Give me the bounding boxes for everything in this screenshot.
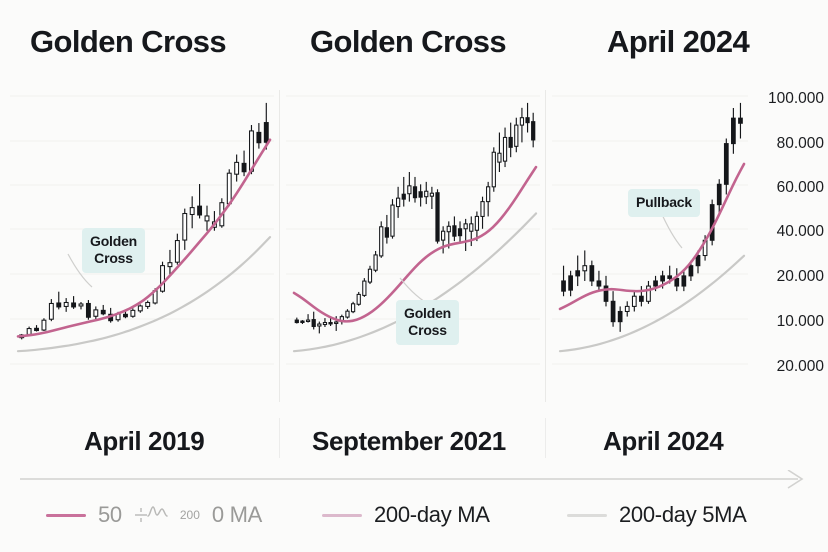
y-axis-tick: 20.000 xyxy=(777,358,824,376)
date-label-3: April 2024 xyxy=(603,426,723,457)
date-labels-row: April 2019 September 2021 April 2024 xyxy=(0,418,828,466)
legend-swatch-200day-ma xyxy=(322,514,362,517)
date-label-2: September 2021 xyxy=(312,426,506,457)
squiggle-icon xyxy=(134,503,168,528)
date-label-1: April 2019 xyxy=(84,426,204,457)
legend-item-50ma[interactable]: 50 200 0 MA xyxy=(46,502,262,528)
legend-label-200-small: 200 xyxy=(180,508,200,522)
legend-label-200day-ma: 200-day MA xyxy=(374,502,490,528)
panel-title-3: April 2024 xyxy=(607,24,749,60)
chart-panel-3: Pullback xyxy=(550,82,750,412)
panel-title-1: Golden Cross xyxy=(30,24,226,60)
panel-divider-2 xyxy=(545,90,546,402)
y-axis-tick: 40.000 xyxy=(777,223,824,241)
date-divider-2 xyxy=(545,418,546,458)
y-axis-labels: 100.00080.00060.00040.00020.00010.00020.… xyxy=(752,82,828,412)
chart-panel-1: Golden Cross xyxy=(8,82,276,412)
panel-title-2: Golden Cross xyxy=(310,24,506,60)
legend-item-200day-5ma[interactable]: 200-day 5MA xyxy=(567,502,747,528)
date-divider-1 xyxy=(279,418,280,458)
panel-titles-row: Golden Cross Golden Cross April 2024 xyxy=(0,0,828,78)
charts-row: Golden Cross Golden Cross Pullback xyxy=(0,82,828,412)
chart-panel-2: Golden Cross xyxy=(284,82,542,412)
legend-label-0ma: 0 MA xyxy=(212,502,262,528)
y-axis-tick: 100.000 xyxy=(768,90,824,108)
candlestick-chart-2 xyxy=(284,82,542,412)
candlestick-chart-3 xyxy=(550,82,750,412)
y-axis-tick: 20.000 xyxy=(777,268,824,286)
annotation-golden-cross-1: Golden Cross xyxy=(82,228,145,273)
panel-divider-1 xyxy=(279,90,280,402)
legend-swatch-200day-5ma xyxy=(567,514,607,517)
legend-swatch-50ma xyxy=(46,514,86,517)
legend: 50 200 0 MA 200-day MA 200-day 5MA xyxy=(0,498,828,544)
legend-item-200day-ma[interactable]: 200-day MA xyxy=(322,502,490,528)
golden-cross-infographic: Golden Cross Golden Cross April 2024 Gol… xyxy=(0,0,828,552)
y-axis-tick: 60.000 xyxy=(777,179,824,197)
arrow-right-icon xyxy=(20,470,810,492)
legend-label-50: 50 xyxy=(98,502,122,528)
y-axis-tick: 10.000 xyxy=(777,313,824,331)
y-axis-tick: 80.000 xyxy=(777,135,824,153)
annotation-pullback: Pullback xyxy=(628,189,700,217)
timeline-arrow xyxy=(20,470,810,492)
legend-label-200day-5ma: 200-day 5MA xyxy=(619,502,747,528)
annotation-golden-cross-2: Golden Cross xyxy=(396,300,459,345)
